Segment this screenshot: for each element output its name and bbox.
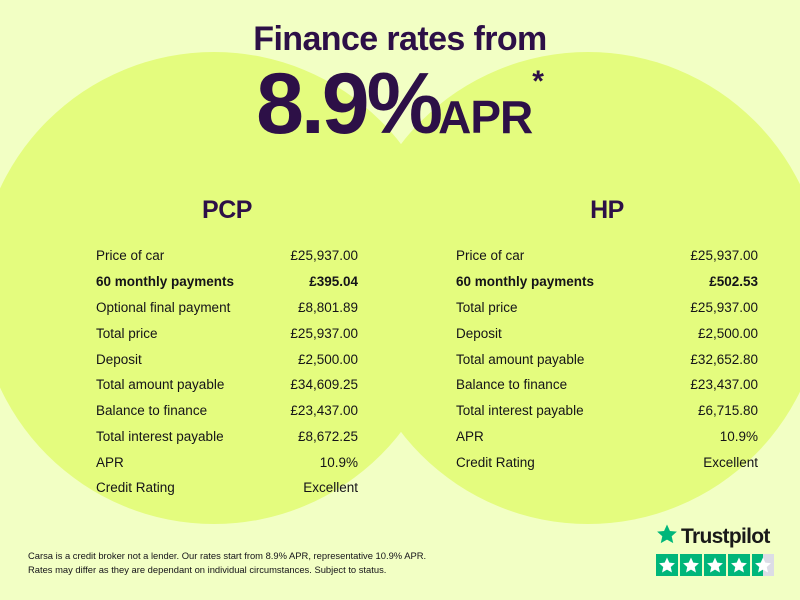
row-value: £34,609.25 [290,377,358,392]
table-row: 60 monthly payments£395.04 [96,269,358,295]
row-label: Total interest payable [96,429,224,444]
plan-hp-title: HP [456,196,758,225]
row-label: Total interest payable [456,403,584,418]
row-label: Deposit [456,326,502,341]
row-value: £8,801.89 [298,300,358,315]
table-row: 60 monthly payments£502.53 [456,269,758,295]
row-value: £502.53 [709,274,758,289]
finance-rates-poster: Finance rates from 8.9% APR * PCP Price … [0,0,800,600]
table-row: Credit RatingExcellent [456,449,758,475]
table-row: Price of car£25,937.00 [96,243,358,269]
row-value: £23,437.00 [690,377,758,392]
row-label: 60 monthly payments [96,274,234,289]
trustpilot-star-5 [752,554,774,576]
table-row: Deposit£2,500.00 [96,346,358,372]
table-row: Optional final payment£8,801.89 [96,295,358,321]
table-row: APR10.9% [456,423,758,449]
row-label: Balance to finance [456,377,567,392]
headline-rate: 8.9% APR * [0,61,800,147]
table-row: APR10.9% [96,449,358,475]
table-row: Total interest payable£6,715.80 [456,398,758,424]
table-row: Deposit£2,500.00 [456,320,758,346]
row-value: £25,937.00 [690,248,758,263]
plan-pcp-title: PCP [96,196,358,225]
rate-value: 8.9% [256,61,440,147]
row-value: 10.9% [320,455,358,470]
trustpilot-star-2 [680,554,702,576]
trustpilot-star-icon [656,523,678,550]
row-label: Total amount payable [96,377,224,392]
row-label: Total amount payable [456,352,584,367]
trustpilot-label: Trustpilot [681,526,770,547]
table-row: Balance to finance£23,437.00 [96,398,358,424]
row-value: £25,937.00 [690,300,758,315]
table-row: Total price£25,937.00 [456,295,758,321]
disclaimer-line-2: Rates may differ as they are dependant o… [28,563,458,578]
row-value: £8,672.25 [298,429,358,444]
trustpilot-wordmark: Trustpilot [656,523,778,550]
page-title: Finance rates from [0,0,800,59]
row-label: Price of car [456,248,524,263]
table-row: Credit RatingExcellent [96,475,358,501]
row-value: £25,937.00 [290,248,358,263]
row-value: £32,652.80 [690,352,758,367]
row-label: APR [456,429,484,444]
disclaimer: Carsa is a credit broker not a lender. O… [28,549,458,578]
row-value: Excellent [703,455,758,470]
table-row: Total amount payable£34,609.25 [96,372,358,398]
table-row: Total price£25,937.00 [96,320,358,346]
row-label: Optional final payment [96,300,230,315]
row-label: Total price [96,326,158,341]
rate-asterisk: * [532,67,544,97]
finance-plans: PCP Price of car£25,937.0060 monthly pay… [0,196,800,501]
row-value: Excellent [303,480,358,495]
row-label: Deposit [96,352,142,367]
row-value: £23,437.00 [290,403,358,418]
plan-pcp-rows: Price of car£25,937.0060 monthly payment… [96,243,358,501]
table-row: Total interest payable£8,672.25 [96,423,358,449]
rate-unit-apr: APR [438,94,532,140]
plan-hp-rows: Price of car£25,937.0060 monthly payment… [456,243,758,475]
row-label: 60 monthly payments [456,274,594,289]
row-label: Total price [456,300,518,315]
header: Finance rates from 8.9% APR * [0,0,800,147]
trustpilot-star-1 [656,554,678,576]
row-value: 10.9% [720,429,758,444]
trustpilot-star-4 [728,554,750,576]
plan-hp: HP Price of car£25,937.0060 monthly paym… [400,196,800,501]
disclaimer-line-1: Carsa is a credit broker not a lender. O… [28,549,458,564]
row-label: Price of car [96,248,164,263]
row-label: Balance to finance [96,403,207,418]
row-value: £25,937.00 [290,326,358,341]
row-label: APR [96,455,124,470]
row-value: £2,500.00 [298,352,358,367]
trustpilot-star-3 [704,554,726,576]
row-value: £6,715.80 [698,403,758,418]
row-value: £395.04 [309,274,358,289]
row-value: £2,500.00 [698,326,758,341]
table-row: Balance to finance£23,437.00 [456,372,758,398]
plan-pcp: PCP Price of car£25,937.0060 monthly pay… [0,196,400,501]
table-row: Total amount payable£32,652.80 [456,346,758,372]
trustpilot-stars [656,554,778,576]
row-label: Credit Rating [456,455,535,470]
trustpilot-rating[interactable]: Trustpilot [656,523,778,576]
row-label: Credit Rating [96,480,175,495]
table-row: Price of car£25,937.00 [456,243,758,269]
